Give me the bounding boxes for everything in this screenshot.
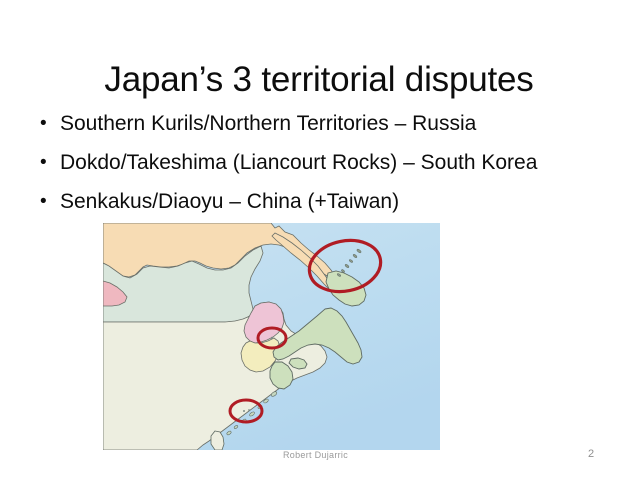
footer-author: Robert Dujarric	[283, 450, 348, 460]
page-title: Japan’s 3 territorial disputes	[0, 61, 638, 100]
slide: Japan’s 3 territorial disputes • Souther…	[0, 0, 638, 479]
list-item-label: Dokdo/Takeshima (Liancourt Rocks) – Sout…	[60, 151, 537, 174]
list-item: • Dokdo/Takeshima (Liancourt Rocks) – So…	[34, 152, 614, 173]
list-item: • Senkakus/Diaoyu – China (+Taiwan)	[34, 191, 614, 212]
bullet-icon: •	[40, 114, 47, 133]
map-image	[103, 223, 440, 450]
bullet-list: • Southern Kurils/Northern Territories –…	[34, 113, 614, 230]
dokdo-islets	[271, 337, 273, 339]
bullet-icon: •	[40, 192, 47, 211]
bullet-icon: •	[40, 153, 47, 172]
page-number: 2	[588, 448, 594, 460]
northeast-asia-map-svg	[103, 223, 440, 450]
list-item: • Southern Kurils/Northern Territories –…	[34, 113, 614, 134]
list-item-label: Senkakus/Diaoyu – China (+Taiwan)	[60, 190, 399, 213]
list-item-label: Southern Kurils/Northern Territories – R…	[60, 112, 476, 135]
